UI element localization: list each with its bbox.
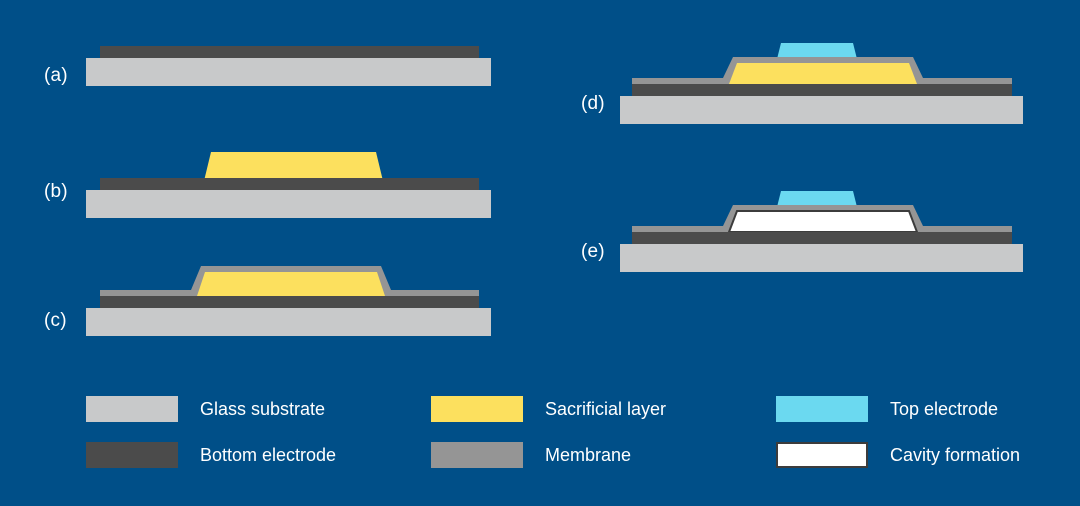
panel-b-diagram — [86, 148, 496, 218]
glass-substrate-layer-a — [86, 58, 491, 86]
legend-swatch-bottom-electrode — [86, 442, 178, 468]
panel-label-c: (c) — [44, 310, 67, 332]
legend-label-glass-substrate: Glass substrate — [200, 399, 325, 420]
bottom-electrode-layer-e — [632, 232, 1012, 244]
legend-item-cavity-formation: Cavity formation — [776, 432, 1080, 478]
panel-label-a: (a) — [44, 65, 68, 87]
legend-item-bottom-electrode: Bottom electrode — [86, 432, 416, 478]
panel-a-diagram — [86, 46, 496, 96]
legend: Glass substrate Bottom electrode Sacrifi… — [86, 386, 1046, 486]
sacrificial-layer-d — [729, 63, 917, 84]
legend-swatch-sacrificial-layer — [431, 396, 523, 422]
legend-label-top-electrode: Top electrode — [890, 399, 998, 420]
legend-item-sacrificial-layer: Sacrificial layer — [431, 386, 761, 432]
glass-substrate-layer-c — [86, 308, 491, 336]
panel-label-d: (d) — [581, 93, 605, 115]
legend-swatch-top-electrode — [776, 396, 868, 422]
glass-substrate-layer-e — [620, 244, 1023, 272]
bottom-electrode-layer-b — [100, 178, 479, 190]
legend-swatch-membrane — [431, 442, 523, 468]
bottom-electrode-layer-a — [100, 46, 479, 58]
legend-column-1: Glass substrate Bottom electrode — [86, 386, 416, 478]
panel-e-diagram — [620, 190, 1030, 272]
top-electrode-layer-e — [777, 191, 857, 207]
bottom-electrode-layer-d — [632, 84, 1012, 96]
sacrificial-layer-b — [204, 152, 383, 181]
panel-label-b: (b) — [44, 181, 68, 203]
legend-column-2: Sacrificial layer Membrane — [431, 386, 761, 478]
panel-c-diagram — [86, 266, 496, 336]
legend-column-3: Top electrode Cavity formation — [776, 386, 1080, 478]
glass-substrate-layer-b — [86, 190, 491, 218]
legend-label-membrane: Membrane — [545, 445, 631, 466]
glass-substrate-layer-d — [620, 96, 1023, 124]
sacrificial-layer-c — [197, 272, 385, 296]
legend-swatch-cavity-formation — [776, 442, 868, 468]
top-electrode-layer-d — [777, 43, 857, 59]
legend-label-cavity-formation: Cavity formation — [890, 445, 1020, 466]
panel-d-diagram — [620, 42, 1030, 124]
legend-label-bottom-electrode: Bottom electrode — [200, 445, 336, 466]
legend-item-membrane: Membrane — [431, 432, 761, 478]
bottom-electrode-layer-c — [100, 296, 479, 308]
legend-item-top-electrode: Top electrode — [776, 386, 1080, 432]
legend-swatch-glass-substrate — [86, 396, 178, 422]
legend-label-sacrificial-layer: Sacrificial layer — [545, 399, 666, 420]
process-flow-figure: (a) (b) (c) — [0, 0, 1080, 506]
panel-label-e: (e) — [581, 241, 605, 263]
cavity-formation-layer-e — [729, 211, 917, 232]
legend-item-glass-substrate: Glass substrate — [86, 386, 416, 432]
